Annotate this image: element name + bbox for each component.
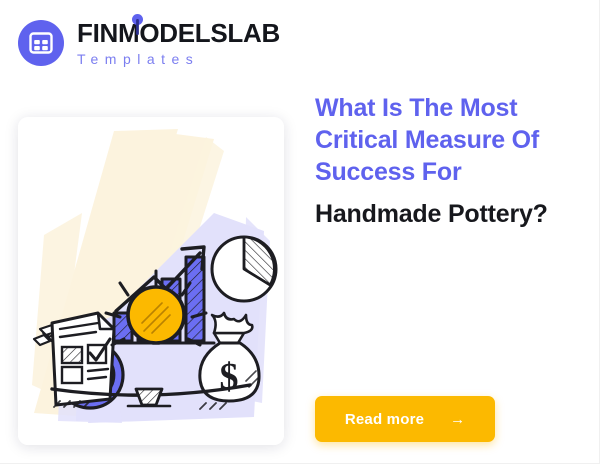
- brand-text-block: FINMODELSLAB Templates: [77, 20, 280, 66]
- location-pin-accent-icon: [132, 14, 143, 36]
- read-more-label: Read more: [345, 411, 424, 428]
- arrow-right-icon: →: [450, 412, 465, 427]
- page-title: What Is The Most Critical Measure Of Suc…: [315, 92, 583, 188]
- banner-canvas: FINMODELSLAB Templates: [0, 0, 600, 464]
- read-more-button[interactable]: Read more →: [315, 396, 495, 442]
- brand-wordmark: FINMODELSLAB: [77, 20, 280, 46]
- grid-squares-icon: [18, 20, 64, 66]
- illustration-card: $: [18, 117, 284, 445]
- brand-logo[interactable]: FINMODELSLAB Templates: [18, 20, 280, 66]
- brand-name-label: FINMODELSLAB: [77, 18, 280, 48]
- page-subtitle: Handmade Pottery?: [315, 198, 583, 230]
- svg-text:$: $: [220, 356, 239, 398]
- content-block: What Is The Most Critical Measure Of Suc…: [315, 92, 583, 230]
- brand-tagline: Templates: [77, 52, 280, 66]
- pie-chart: [212, 237, 276, 301]
